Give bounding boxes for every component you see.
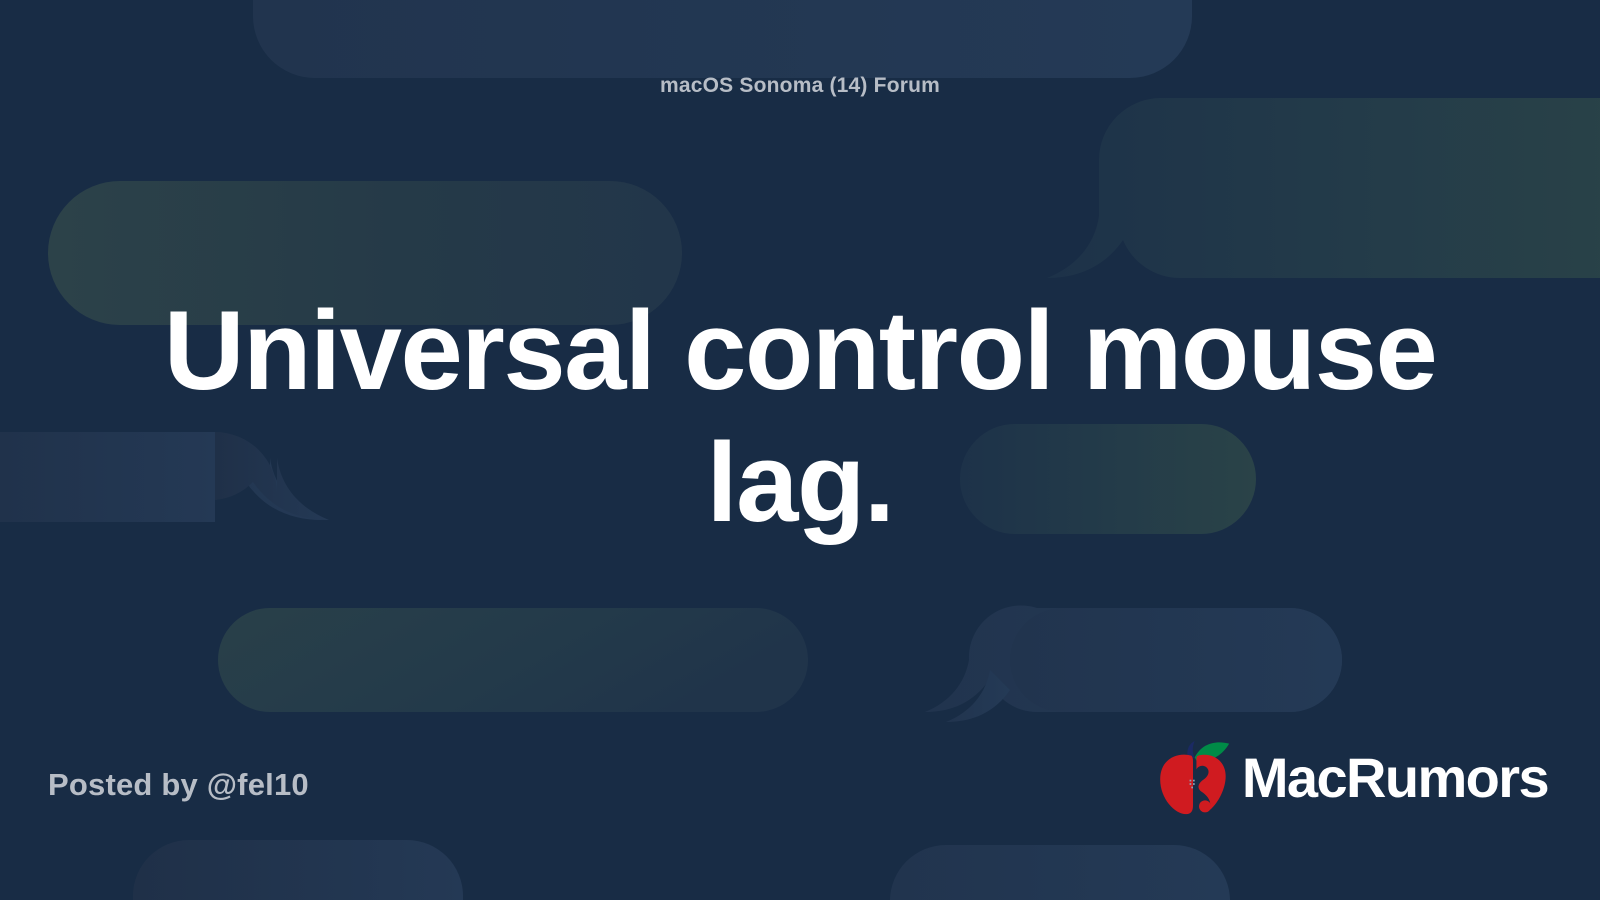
share-card: macOS Sonoma (14) Forum Universal contro… <box>0 0 1600 900</box>
macrumors-brand: MacRumors <box>1150 735 1548 821</box>
macrumors-apple-question-logo <box>1150 735 1236 821</box>
bubble-top-right <box>1047 98 1600 278</box>
bubble-top-center <box>253 0 1192 78</box>
page-title: Universal control mouse lag. <box>140 285 1460 549</box>
posted-by-label: Posted by @fel10 <box>48 767 309 803</box>
forum-label: macOS Sonoma (14) Forum <box>0 74 1600 98</box>
bubble-bottom-left <box>133 840 463 900</box>
macrumors-wordmark: MacRumors <box>1242 750 1548 806</box>
bubble-lower-right <box>925 605 1342 722</box>
bubble-lower-left-pill <box>218 608 808 712</box>
bubble-bottom-right <box>890 845 1230 900</box>
